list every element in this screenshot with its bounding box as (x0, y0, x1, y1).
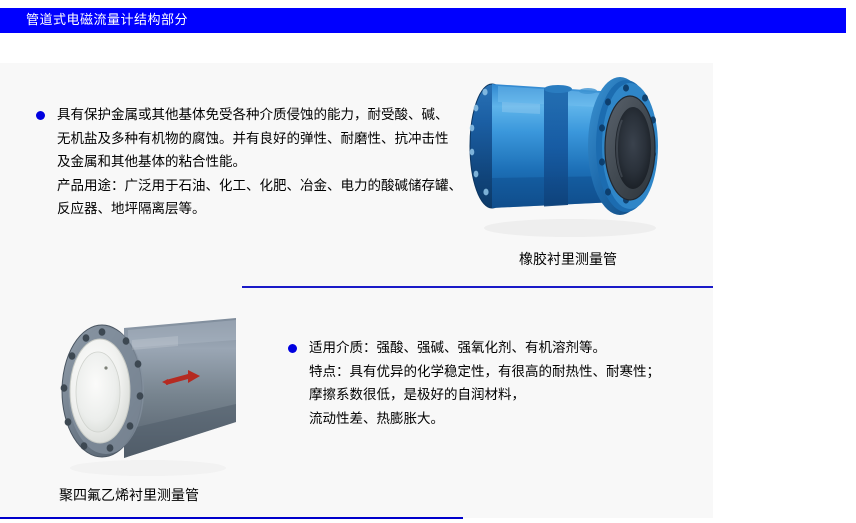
page-bottom-rule (0, 517, 463, 519)
ptfe-photo-caption: 聚四氟乙烯衬里测量管 (59, 485, 199, 505)
ptfe-line-4: 流动性差、热膨胀大。 (309, 408, 660, 432)
rubber-lined-measuring-tube-photo (440, 42, 702, 246)
rubber-line-4: 产品用途：广泛用于石油、化工、化肥、冶金、电力的酸碱储存罐、 (57, 175, 462, 199)
section-divider-rule (242, 286, 713, 288)
rubber-line-1: 具有保护金属或其他基体免受各种介质侵蚀的能力，耐受酸、碱、 (57, 104, 462, 128)
ptfe-line-1: 适用介质：强酸、强碱、强氧化剂、有机溶剂等。 (309, 337, 660, 361)
ptfe-line-2: 特点：具有优异的化学稳定性，有很高的耐热性、耐寒性； (309, 361, 660, 385)
ptfe-lined-measuring-tube-photo (28, 318, 264, 481)
ptfe-line-3: 摩擦系数很低，是极好的自润材料， (309, 384, 660, 408)
rubber-photo-caption: 橡胶衬里测量管 (519, 249, 617, 269)
rubber-line-3: 及金属和其他基体的粘合性能。 (57, 151, 462, 175)
page-header-bar: 管道式电磁流量计结构部分 (0, 8, 846, 33)
page-title: 管道式电磁流量计结构部分 (0, 14, 188, 27)
rubber-line-5: 反应器、地坪隔离层等。 (57, 198, 462, 222)
ptfe-section-text: 适用介质：强酸、强碱、强氧化剂、有机溶剂等。 特点：具有优异的化学稳定性，有很高… (288, 337, 660, 431)
rubber-line-2: 无机盐及多种有机物的腐蚀。并有良好的弹性、耐磨性、抗冲击性 (57, 128, 462, 152)
bullet-dot-icon (288, 344, 297, 353)
bullet-dot-icon (36, 111, 45, 120)
rubber-section-text: 具有保护金属或其他基体免受各种介质侵蚀的能力，耐受酸、碱、 无机盐及多种有机物的… (36, 104, 462, 222)
